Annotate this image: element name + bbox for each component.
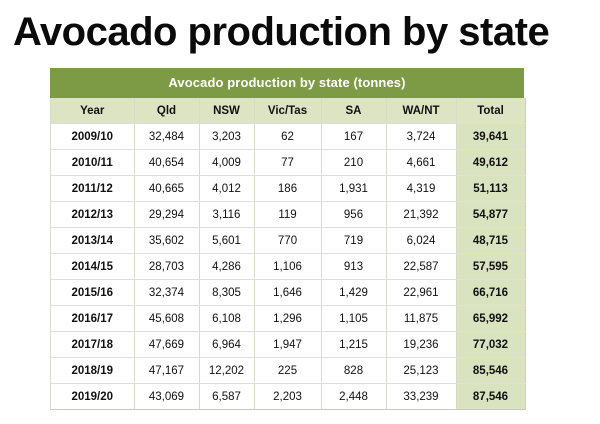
cell-qld: 35,602: [134, 228, 199, 254]
cell-sa: 210: [321, 150, 386, 176]
cell-qld: 40,654: [134, 150, 199, 176]
cell-year: 2014/15: [51, 254, 134, 280]
table-row: 2016/1745,6086,1081,2961,10511,87565,992: [51, 306, 525, 332]
cell-total: 65,992: [456, 306, 525, 332]
cell-year: 2009/10: [51, 124, 134, 150]
cell-total: 54,877: [456, 202, 525, 228]
cell-qld: 28,703: [134, 254, 199, 280]
cell-year: 2017/18: [51, 332, 134, 358]
cell-sa: 956: [321, 202, 386, 228]
cell-vic-tas: 1,947: [254, 332, 321, 358]
cell-year: 2013/14: [51, 228, 134, 254]
table-row: 2014/1528,7034,2861,10691322,58757,595: [51, 254, 525, 280]
cell-sa: 2,448: [321, 384, 386, 410]
cell-nsw: 3,203: [199, 124, 254, 150]
cell-wa-nt: 21,392: [386, 202, 456, 228]
cell-vic-tas: 1,296: [254, 306, 321, 332]
cell-vic-tas: 62: [254, 124, 321, 150]
cell-nsw: 8,305: [199, 280, 254, 306]
table-row: 2009/1032,4843,203621673,72439,641: [51, 124, 525, 150]
cell-sa: 1,429: [321, 280, 386, 306]
column-header-year: Year: [51, 98, 134, 124]
cell-year: 2019/20: [51, 384, 134, 410]
cell-total: 85,546: [456, 358, 525, 384]
cell-wa-nt: 4,661: [386, 150, 456, 176]
cell-year: 2016/17: [51, 306, 134, 332]
cell-nsw: 4,286: [199, 254, 254, 280]
cell-nsw: 6,587: [199, 384, 254, 410]
column-header-sa: SA: [321, 98, 386, 124]
cell-wa-nt: 4,319: [386, 176, 456, 202]
cell-sa: 1,105: [321, 306, 386, 332]
cell-year: 2018/19: [51, 358, 134, 384]
cell-nsw: 6,108: [199, 306, 254, 332]
column-header-nsw: NSW: [199, 98, 254, 124]
cell-nsw: 5,601: [199, 228, 254, 254]
cell-vic-tas: 2,203: [254, 384, 321, 410]
cell-sa: 828: [321, 358, 386, 384]
cell-year: 2010/11: [51, 150, 134, 176]
table-row: 2013/1435,6025,6017707196,02448,715: [51, 228, 525, 254]
table-caption: Avocado production by state (tonnes): [50, 68, 524, 98]
cell-vic-tas: 225: [254, 358, 321, 384]
cell-total: 48,715: [456, 228, 525, 254]
cell-total: 66,716: [456, 280, 525, 306]
table-row: 2010/1140,6544,009772104,66149,612: [51, 150, 525, 176]
cell-wa-nt: 19,236: [386, 332, 456, 358]
table-body: 2009/1032,4843,203621673,72439,6412010/1…: [51, 124, 525, 410]
cell-wa-nt: 22,961: [386, 280, 456, 306]
cell-total: 77,032: [456, 332, 525, 358]
cell-total: 49,612: [456, 150, 525, 176]
cell-wa-nt: 6,024: [386, 228, 456, 254]
table-header-row: Year Qld NSW Vic/Tas SA WA/NT Total: [51, 98, 525, 124]
avocado-production-table: Year Qld NSW Vic/Tas SA WA/NT Total 2009…: [51, 98, 526, 410]
table-row: 2011/1240,6654,0121861,9314,31951,113: [51, 176, 525, 202]
cell-vic-tas: 119: [254, 202, 321, 228]
cell-nsw: 4,012: [199, 176, 254, 202]
cell-nsw: 12,202: [199, 358, 254, 384]
cell-nsw: 4,009: [199, 150, 254, 176]
cell-wa-nt: 25,123: [386, 358, 456, 384]
cell-total: 39,641: [456, 124, 525, 150]
cell-qld: 47,167: [134, 358, 199, 384]
table-header: Year Qld NSW Vic/Tas SA WA/NT Total: [51, 98, 525, 124]
cell-year: 2015/16: [51, 280, 134, 306]
cell-total: 87,546: [456, 384, 525, 410]
cell-qld: 47,669: [134, 332, 199, 358]
cell-vic-tas: 770: [254, 228, 321, 254]
cell-wa-nt: 22,587: [386, 254, 456, 280]
cell-qld: 40,665: [134, 176, 199, 202]
column-header-wa-nt: WA/NT: [386, 98, 456, 124]
cell-sa: 1,215: [321, 332, 386, 358]
table-row: 2012/1329,2943,11611995621,39254,877: [51, 202, 525, 228]
cell-wa-nt: 33,239: [386, 384, 456, 410]
table-row: 2015/1632,3748,3051,6461,42922,96166,716: [51, 280, 525, 306]
cell-qld: 32,484: [134, 124, 199, 150]
table-row: 2019/2043,0696,5872,2032,44833,23987,546: [51, 384, 525, 410]
cell-total: 51,113: [456, 176, 525, 202]
cell-qld: 43,069: [134, 384, 199, 410]
cell-qld: 32,374: [134, 280, 199, 306]
cell-sa: 913: [321, 254, 386, 280]
cell-vic-tas: 1,646: [254, 280, 321, 306]
cell-sa: 1,931: [321, 176, 386, 202]
production-table-container: Avocado production by state (tonnes) Yea…: [50, 68, 524, 410]
table-row: 2018/1947,16712,20222582825,12385,546: [51, 358, 525, 384]
column-header-vic-tas: Vic/Tas: [254, 98, 321, 124]
page-title: Avocado production by state: [13, 8, 593, 56]
cell-nsw: 6,964: [199, 332, 254, 358]
cell-nsw: 3,116: [199, 202, 254, 228]
cell-sa: 719: [321, 228, 386, 254]
cell-qld: 29,294: [134, 202, 199, 228]
cell-sa: 167: [321, 124, 386, 150]
cell-qld: 45,608: [134, 306, 199, 332]
table-grid-frame: Year Qld NSW Vic/Tas SA WA/NT Total 2009…: [50, 98, 524, 410]
cell-year: 2011/12: [51, 176, 134, 202]
cell-vic-tas: 77: [254, 150, 321, 176]
cell-wa-nt: 3,724: [386, 124, 456, 150]
column-header-qld: Qld: [134, 98, 199, 124]
cell-vic-tas: 186: [254, 176, 321, 202]
table-row: 2017/1847,6696,9641,9471,21519,23677,032: [51, 332, 525, 358]
cell-wa-nt: 11,875: [386, 306, 456, 332]
column-header-total: Total: [456, 98, 525, 124]
slide-canvas: Avocado production by state Avocado prod…: [0, 0, 600, 424]
cell-total: 57,595: [456, 254, 525, 280]
cell-year: 2012/13: [51, 202, 134, 228]
cell-vic-tas: 1,106: [254, 254, 321, 280]
